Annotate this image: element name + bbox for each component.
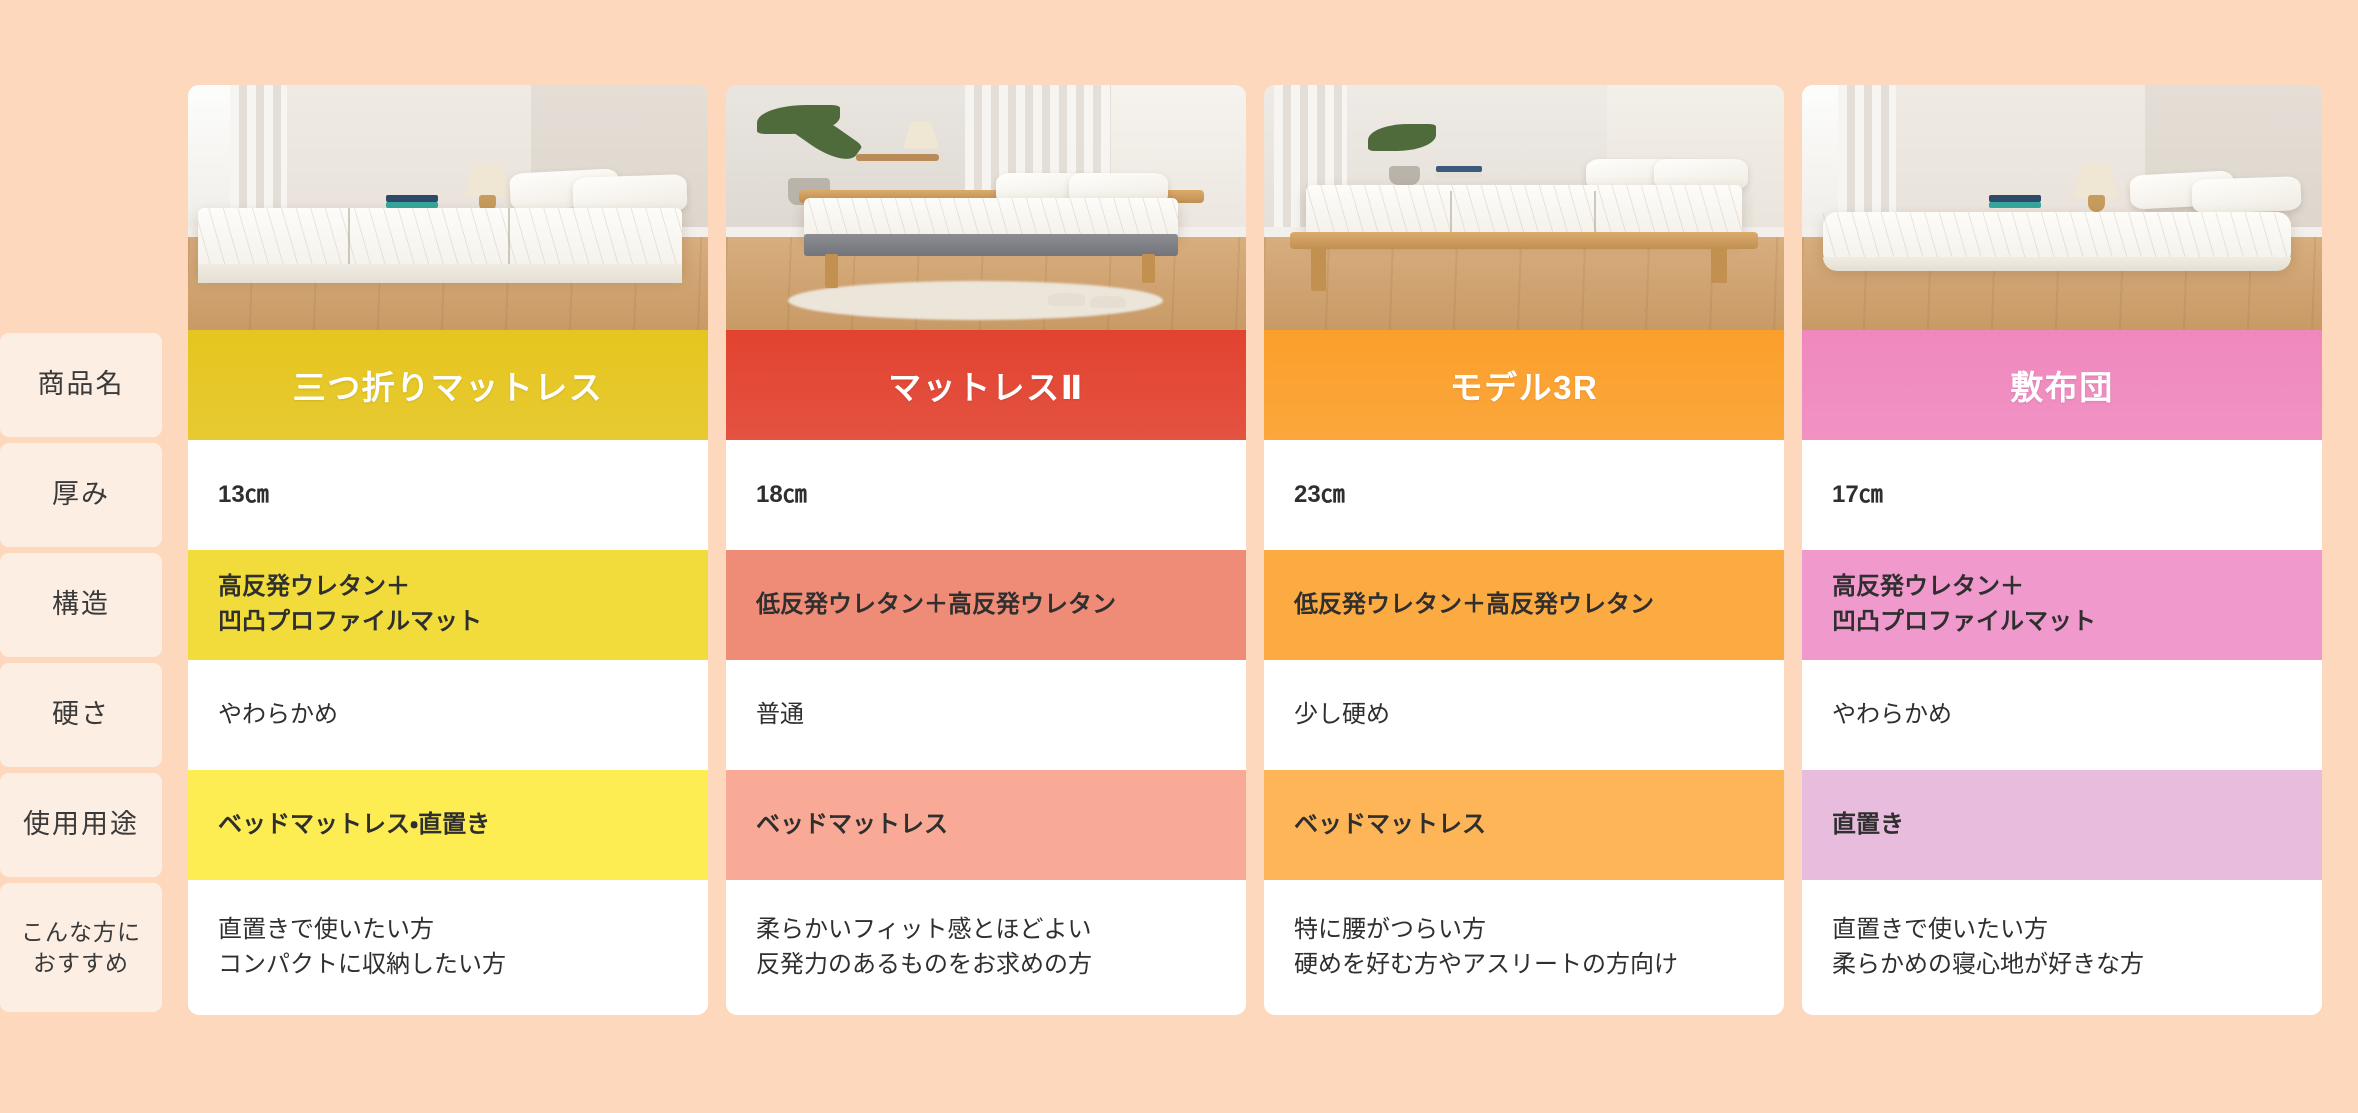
recommended-line-2: 反発力のあるものをお求めの方 xyxy=(756,948,1216,983)
usage-value: 直置き xyxy=(1832,808,2292,843)
firmness-value: やわらかめ xyxy=(218,698,678,733)
thickness-value: 17㎝ xyxy=(1832,478,2292,513)
row-label-structure: 構造 xyxy=(0,553,162,657)
structure-line-2: 凹凸プロファイルマット xyxy=(218,605,678,640)
usage-tri-fold-mattress: ベッドマットレス・直置き xyxy=(188,770,708,880)
recommended-line-1: 直置きで使いたい方 xyxy=(218,913,678,948)
recommended-line-1: 柔らかいフィット感とほどよい xyxy=(756,913,1216,948)
thickness-tri-fold-mattress: 13㎝ xyxy=(188,440,708,550)
recommended-line-2: 柔らかめの寝心地が好きな方 xyxy=(1832,948,2292,983)
row-label-recommended-text: こんな方におすすめ xyxy=(21,917,141,978)
usage-mattress-2: ベッドマットレス xyxy=(726,770,1246,880)
firmness-mattress-2: 普通 xyxy=(726,660,1246,770)
row-label-recommended: こんな方におすすめ xyxy=(0,883,162,1012)
firmness-value: 普通 xyxy=(756,698,1216,733)
thickness-value: 18㎝ xyxy=(756,478,1216,513)
comparison-table: 商品名 三つ折りマットレス マットレスⅡ モデル3R 敷布団 厚み 13㎝ 18… xyxy=(0,0,2358,1113)
row-label-firmness: 硬さ xyxy=(0,663,162,767)
firmness-value: 少し硬め xyxy=(1294,698,1754,733)
thickness-futon-mattress: 17㎝ xyxy=(1802,440,2322,550)
thickness-value: 13㎝ xyxy=(218,478,678,513)
recommended-futon-mattress: 直置きで使いたい方 柔らかめの寝心地が好きな方 xyxy=(1802,880,2322,1015)
product-name-tri-fold-mattress: 三つ折りマットレス xyxy=(188,330,708,440)
recommended-mattress-2: 柔らかいフィット感とほどよい 反発力のあるものをお求めの方 xyxy=(726,880,1246,1015)
product-photo-mattress-2 xyxy=(726,85,1246,330)
structure-tri-fold-mattress: 高反発ウレタン＋ 凹凸プロファイルマット xyxy=(188,550,708,660)
product-name-futon-mattress: 敷布団 xyxy=(1802,330,2322,440)
row-label-thickness: 厚み xyxy=(0,443,162,547)
structure-line-1: 高反発ウレタン＋ xyxy=(1832,570,2292,605)
usage-value: ベッドマットレス・直置き xyxy=(218,808,678,843)
grid-corner-spacer xyxy=(0,85,170,330)
row-label-product-name: 商品名 xyxy=(0,333,162,437)
thickness-mattress-2: 18㎝ xyxy=(726,440,1246,550)
structure-line-1: 低反発ウレタン＋高反発ウレタン xyxy=(1294,588,1754,623)
thickness-value: 23㎝ xyxy=(1294,478,1754,513)
usage-value: ベッドマットレス xyxy=(756,808,1216,843)
structure-line-1: 高反発ウレタン＋ xyxy=(218,570,678,605)
recommended-line-1: 特に腰がつらい方 xyxy=(1294,913,1754,948)
recommended-model-3r: 特に腰がつらい方 硬めを好む方やアスリートの方向け xyxy=(1264,880,1784,1015)
product-photo-model-3r xyxy=(1264,85,1784,330)
usage-model-3r: ベッドマットレス xyxy=(1264,770,1784,880)
product-photo-tri-fold-mattress xyxy=(188,85,708,330)
recommended-line-1: 直置きで使いたい方 xyxy=(1832,913,2292,948)
product-name-model-3r: モデル3R xyxy=(1264,330,1784,440)
recommended-tri-fold-mattress: 直置きで使いたい方 コンパクトに収納したい方 xyxy=(188,880,708,1015)
structure-model-3r: 低反発ウレタン＋高反発ウレタン xyxy=(1264,550,1784,660)
product-photo-futon-mattress xyxy=(1802,85,2322,330)
product-name-mattress-2: マットレスⅡ xyxy=(726,330,1246,440)
usage-futon-mattress: 直置き xyxy=(1802,770,2322,880)
structure-mattress-2: 低反発ウレタン＋高反発ウレタン xyxy=(726,550,1246,660)
firmness-model-3r: 少し硬め xyxy=(1264,660,1784,770)
firmness-value: やわらかめ xyxy=(1832,698,2292,733)
recommended-line-2: コンパクトに収納したい方 xyxy=(218,948,678,983)
row-label-usage: 使用用途 xyxy=(0,773,162,877)
structure-futon-mattress: 高反発ウレタン＋ 凹凸プロファイルマット xyxy=(1802,550,2322,660)
comparison-grid: 商品名 三つ折りマットレス マットレスⅡ モデル3R 敷布団 厚み 13㎝ 18… xyxy=(0,85,2290,1015)
thickness-model-3r: 23㎝ xyxy=(1264,440,1784,550)
firmness-tri-fold-mattress: やわらかめ xyxy=(188,660,708,770)
structure-line-1: 低反発ウレタン＋高反発ウレタン xyxy=(756,588,1216,623)
recommended-line-2: 硬めを好む方やアスリートの方向け xyxy=(1294,948,1754,983)
structure-line-2: 凹凸プロファイルマット xyxy=(1832,605,2292,640)
firmness-futon-mattress: やわらかめ xyxy=(1802,660,2322,770)
usage-value: ベッドマットレス xyxy=(1294,808,1754,843)
